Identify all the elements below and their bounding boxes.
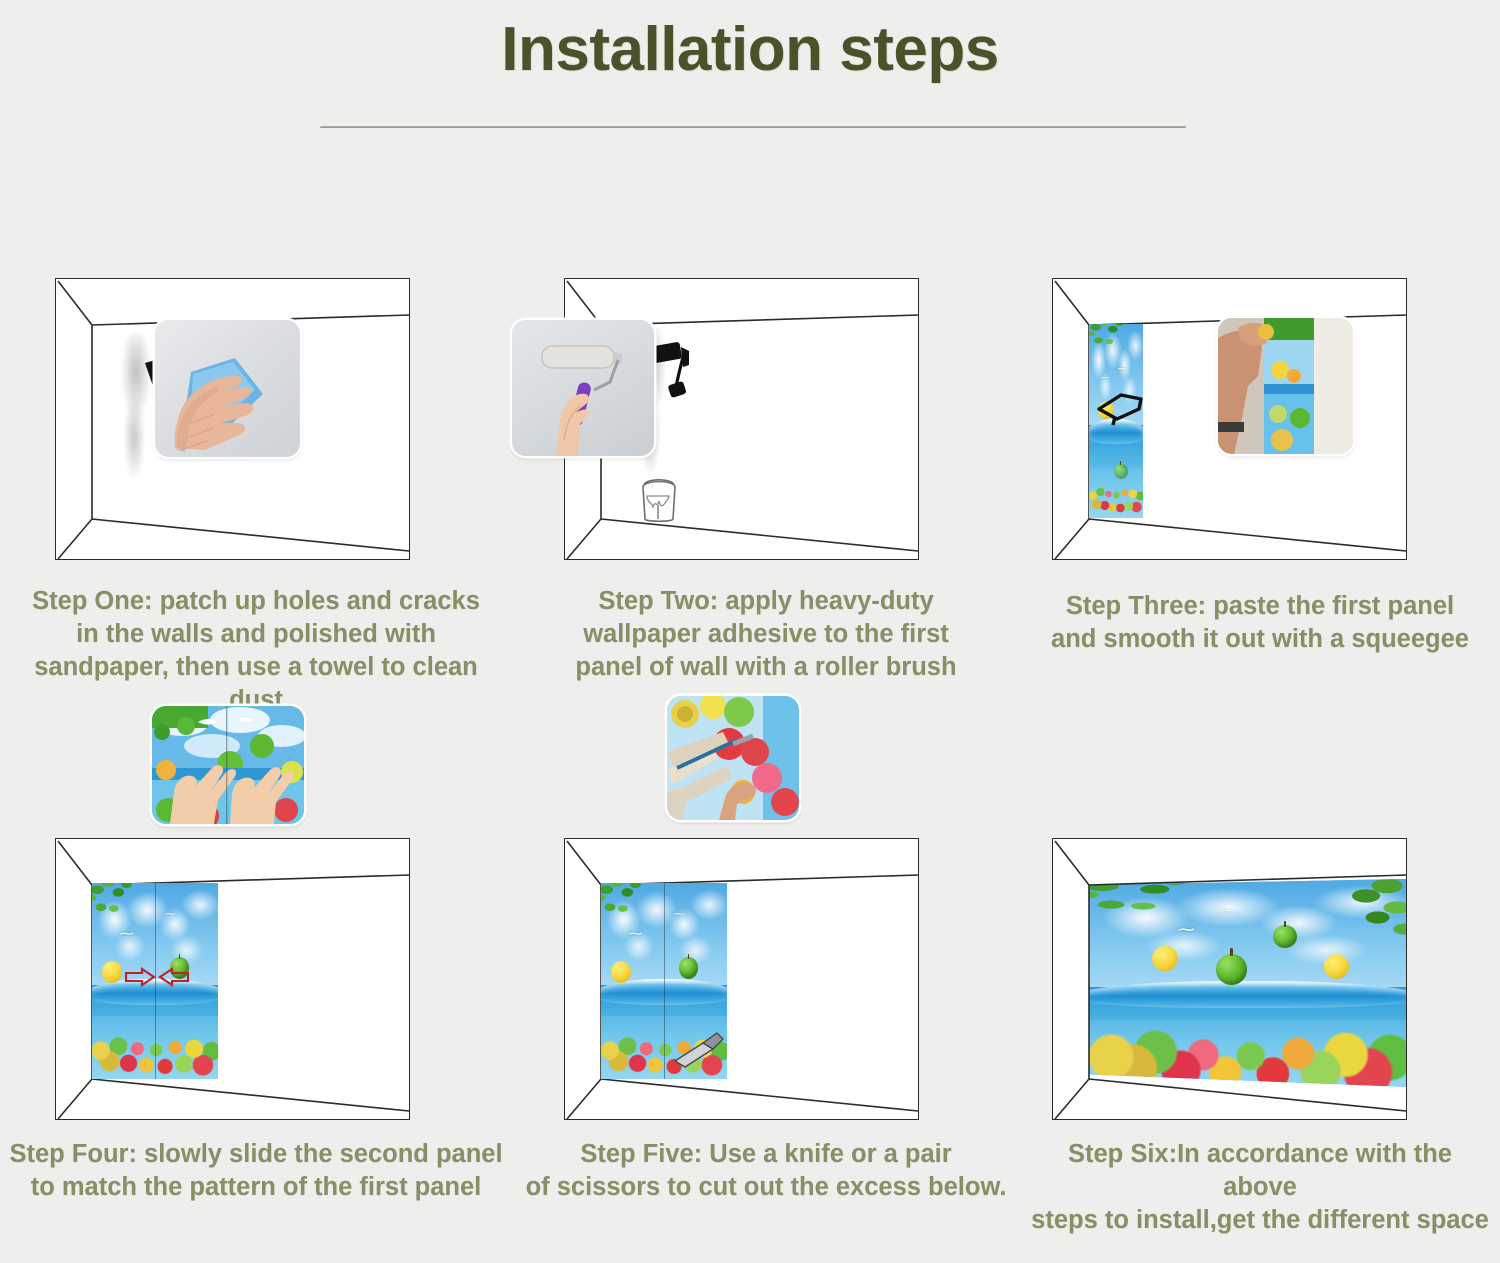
step-caption-five: Step Five: Use a knife or a pair of scis…	[512, 1138, 1020, 1204]
caption-line: to match the pattern of the first panel	[8, 1171, 504, 1204]
paint-bucket-icon	[635, 475, 683, 525]
step-card-one: Step One: patch up holes and cracks in t…	[0, 150, 512, 718]
caption-line: wallpaper adhesive to the first	[520, 618, 1012, 651]
step-card-three: Step Three: paste the first panel and sm…	[1020, 150, 1500, 718]
caption-line: steps to install,get the different space	[1028, 1204, 1492, 1237]
mural-leaves	[601, 883, 654, 942]
caption-line: Step Two: apply heavy-duty	[520, 585, 1012, 618]
hand-wiping-wall-with-blue-cloth-photo	[155, 320, 300, 457]
knife-cutting-illustration	[667, 696, 799, 820]
step-caption-two: Step Two: apply heavy-duty wallpaper adh…	[512, 585, 1020, 684]
squeegee-icon	[1093, 387, 1153, 427]
caption-line: and smooth it out with a squeegee	[1028, 623, 1492, 656]
title-divider	[320, 126, 1186, 128]
mural-fruit-band	[1089, 468, 1143, 518]
paint-roller-on-wall-photo	[512, 320, 654, 456]
caption-line: Step Six:In accordance with the above	[1028, 1138, 1492, 1204]
mural-seagull	[1117, 365, 1127, 375]
step-caption-three: Step Three: paste the first panel and sm…	[1020, 590, 1500, 656]
step-card-four: Step Four: slowly slide the second panel…	[0, 718, 512, 1263]
mural-apple	[679, 957, 698, 979]
room-diagram-four	[55, 838, 410, 1120]
room-perspective-lines	[1053, 839, 1408, 1121]
mural-leaves	[1089, 324, 1135, 367]
panel-match-arrows	[124, 967, 190, 989]
step-card-two: Step Two: apply heavy-duty wallpaper adh…	[512, 150, 1020, 718]
step-caption-one: Step One: patch up holes and cracks in t…	[0, 585, 512, 718]
caption-line: Step One: patch up holes and cracks	[8, 585, 504, 618]
caption-line: panel of wall with a roller brush	[520, 651, 1012, 684]
room-diagram-six	[1052, 838, 1407, 1120]
roller-illustration	[512, 320, 654, 456]
step-caption-six: Step Six:In accordance with the above st…	[1020, 1138, 1500, 1237]
mural-seagull	[629, 926, 643, 940]
caption-line: of scissors to cut out the excess below.	[520, 1171, 1012, 1204]
caption-line: Step Five: Use a knife or a pair	[520, 1138, 1012, 1171]
mural-lemon	[102, 961, 122, 983]
caption-line: in the walls and polished with	[8, 618, 504, 651]
step-caption-four: Step Four: slowly slide the second panel…	[0, 1138, 512, 1204]
right-arrow-icon	[126, 969, 154, 985]
step-card-six: Step Six:In accordance with the above st…	[1020, 718, 1500, 1263]
mural-seagull	[674, 910, 684, 920]
cutting-excess-wallpaper-with-knife-photo	[667, 696, 799, 820]
step-card-five: Step Five: Use a knife or a pair of scis…	[512, 718, 1020, 1263]
caption-line: Step Three: paste the first panel	[1028, 590, 1492, 623]
mural-seagull	[165, 910, 175, 920]
page-title: Installation steps	[0, 0, 1500, 85]
panel-application-illustration	[1218, 318, 1353, 454]
left-arrow-icon	[160, 969, 188, 985]
utility-knife-icon	[669, 1027, 725, 1069]
mural-seagull	[1101, 374, 1109, 382]
panel-seam	[664, 883, 665, 1079]
steps-grid: Step One: patch up holes and cracks in t…	[0, 150, 1500, 1263]
mural-leaves	[92, 883, 145, 942]
two-hands-matching-wallpaper-panels-photo	[152, 706, 304, 824]
hand-cloth-illustration	[155, 320, 300, 457]
hands-matching-illustration	[152, 706, 304, 824]
mural-lemon	[611, 961, 631, 983]
room-diagram-five	[564, 838, 919, 1120]
person-applying-first-wallpaper-panel-photo	[1218, 318, 1353, 454]
caption-line: Step Four: slowly slide the second panel	[8, 1138, 504, 1171]
mural-seagull	[120, 926, 134, 940]
